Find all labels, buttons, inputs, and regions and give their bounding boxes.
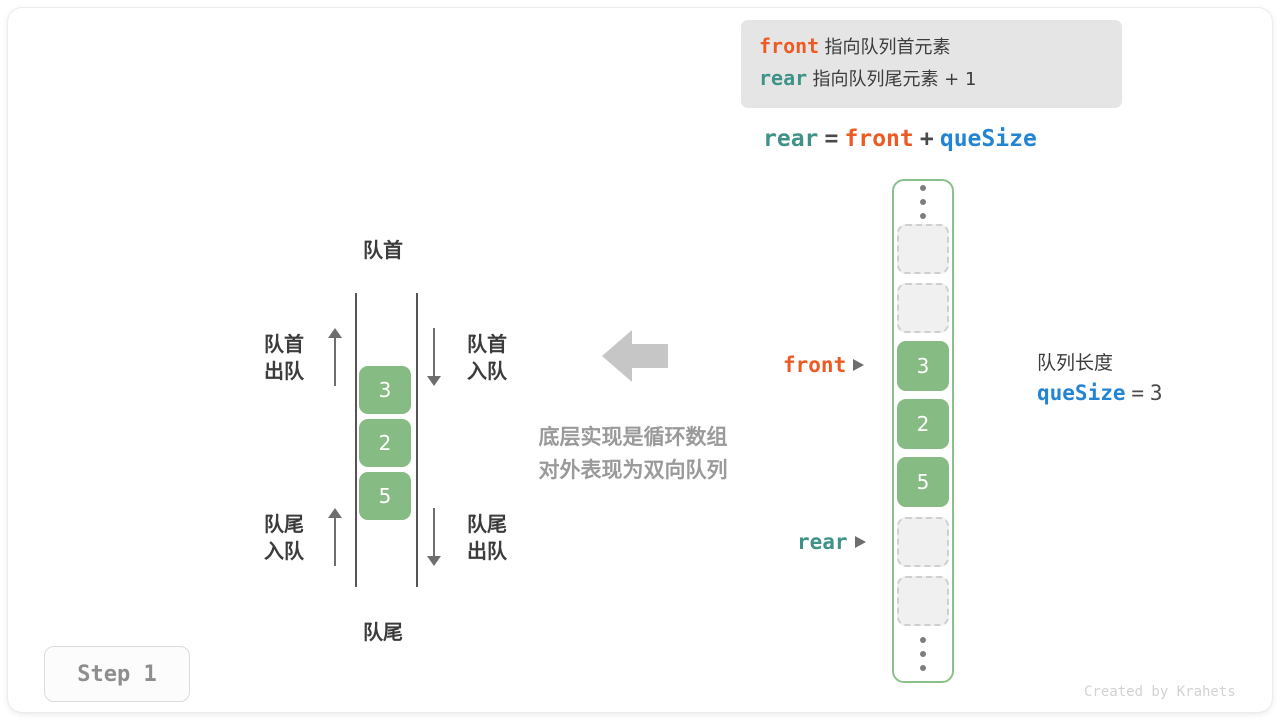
array-cell-value-3: 3 bbox=[897, 341, 949, 391]
deque-tail-label: 队尾 bbox=[338, 619, 428, 646]
step-badge: Step 1 bbox=[44, 646, 190, 702]
arrow-right-icon bbox=[855, 536, 866, 548]
deque-op-head-dequeue-label: 队首 出队 bbox=[248, 331, 320, 385]
deque-op-tail-enqueue-label: 队尾 入队 bbox=[248, 511, 320, 565]
quesize-note-title: 队列长度 bbox=[1037, 348, 1163, 375]
arrow-left-large-icon bbox=[602, 328, 668, 384]
deque-rail-right bbox=[416, 293, 418, 587]
figure-canvas: front 指向队列首元素 rear 指向队列尾元素 + 1 rear = fr… bbox=[8, 8, 1272, 712]
arrow-right-icon bbox=[853, 359, 864, 371]
credit-text: Created by Krahets bbox=[1084, 684, 1236, 700]
legend-box: front 指向队列首元素 rear 指向队列尾元素 + 1 bbox=[741, 20, 1122, 108]
array-cell-empty-3 bbox=[897, 517, 949, 567]
quesize-equals: = bbox=[1131, 381, 1144, 405]
formula-operand-quesize: queSize bbox=[940, 126, 1037, 152]
pointer-rear-label: rear bbox=[797, 530, 848, 554]
legend-token-front: front bbox=[759, 34, 819, 58]
pointer-front: front bbox=[783, 353, 864, 377]
array-cell-value-2: 2 bbox=[897, 399, 949, 449]
center-note-line-1: 底层实现是循环数组 bbox=[508, 421, 758, 454]
deque-cell-5: 5 bbox=[359, 472, 411, 520]
arrow-down-tail-dequeue-icon bbox=[427, 508, 441, 566]
array-cell-value-5: 5 bbox=[897, 457, 949, 507]
deque-cell-2: 2 bbox=[359, 419, 411, 467]
formula-plus: + bbox=[920, 126, 934, 152]
quesize-note-expression: queSize = 3 bbox=[1037, 382, 1163, 405]
formula-rear-equals: rear = front + queSize bbox=[763, 126, 1037, 152]
quesize-note: 队列长度 queSize = 3 bbox=[1037, 348, 1163, 406]
legend-text-rear: 指向队列尾元素 + 1 bbox=[812, 69, 976, 90]
arrow-down-head-enqueue-icon bbox=[427, 328, 441, 386]
deque-cell-3: 3 bbox=[359, 366, 411, 414]
deque-head-label: 队首 bbox=[338, 237, 428, 264]
arrow-up-tail-enqueue-icon bbox=[328, 508, 342, 566]
quesize-value: 3 bbox=[1150, 381, 1163, 405]
legend-line-front: front 指向队列首元素 bbox=[759, 31, 1104, 63]
center-note-line-2: 对外表现为双向队列 bbox=[508, 454, 758, 487]
quesize-name: queSize bbox=[1037, 381, 1126, 405]
pointer-rear: rear bbox=[797, 530, 866, 554]
array-cell-empty-4 bbox=[897, 576, 949, 626]
legend-text-front: 指向队列首元素 bbox=[825, 37, 951, 58]
array-cell-empty-1 bbox=[897, 224, 949, 274]
formula-operand-front: front bbox=[845, 126, 914, 152]
deque-op-tail-dequeue-label: 队尾 出队 bbox=[451, 511, 523, 565]
deque-op-head-enqueue-label: 队首 入队 bbox=[451, 331, 523, 385]
arrow-up-head-dequeue-icon bbox=[328, 328, 342, 386]
array-ellipsis-bottom bbox=[914, 637, 932, 671]
formula-equals: = bbox=[825, 126, 839, 152]
formula-lhs: rear bbox=[763, 126, 818, 152]
pointer-front-label: front bbox=[783, 353, 846, 377]
array-cell-empty-2 bbox=[897, 283, 949, 333]
deque-rail-left bbox=[355, 293, 357, 587]
array-ellipsis-top bbox=[914, 185, 932, 219]
center-note: 底层实现是循环数组 对外表现为双向队列 bbox=[508, 421, 758, 487]
legend-token-rear: rear bbox=[759, 66, 807, 90]
legend-line-rear: rear 指向队列尾元素 + 1 bbox=[759, 63, 1104, 95]
